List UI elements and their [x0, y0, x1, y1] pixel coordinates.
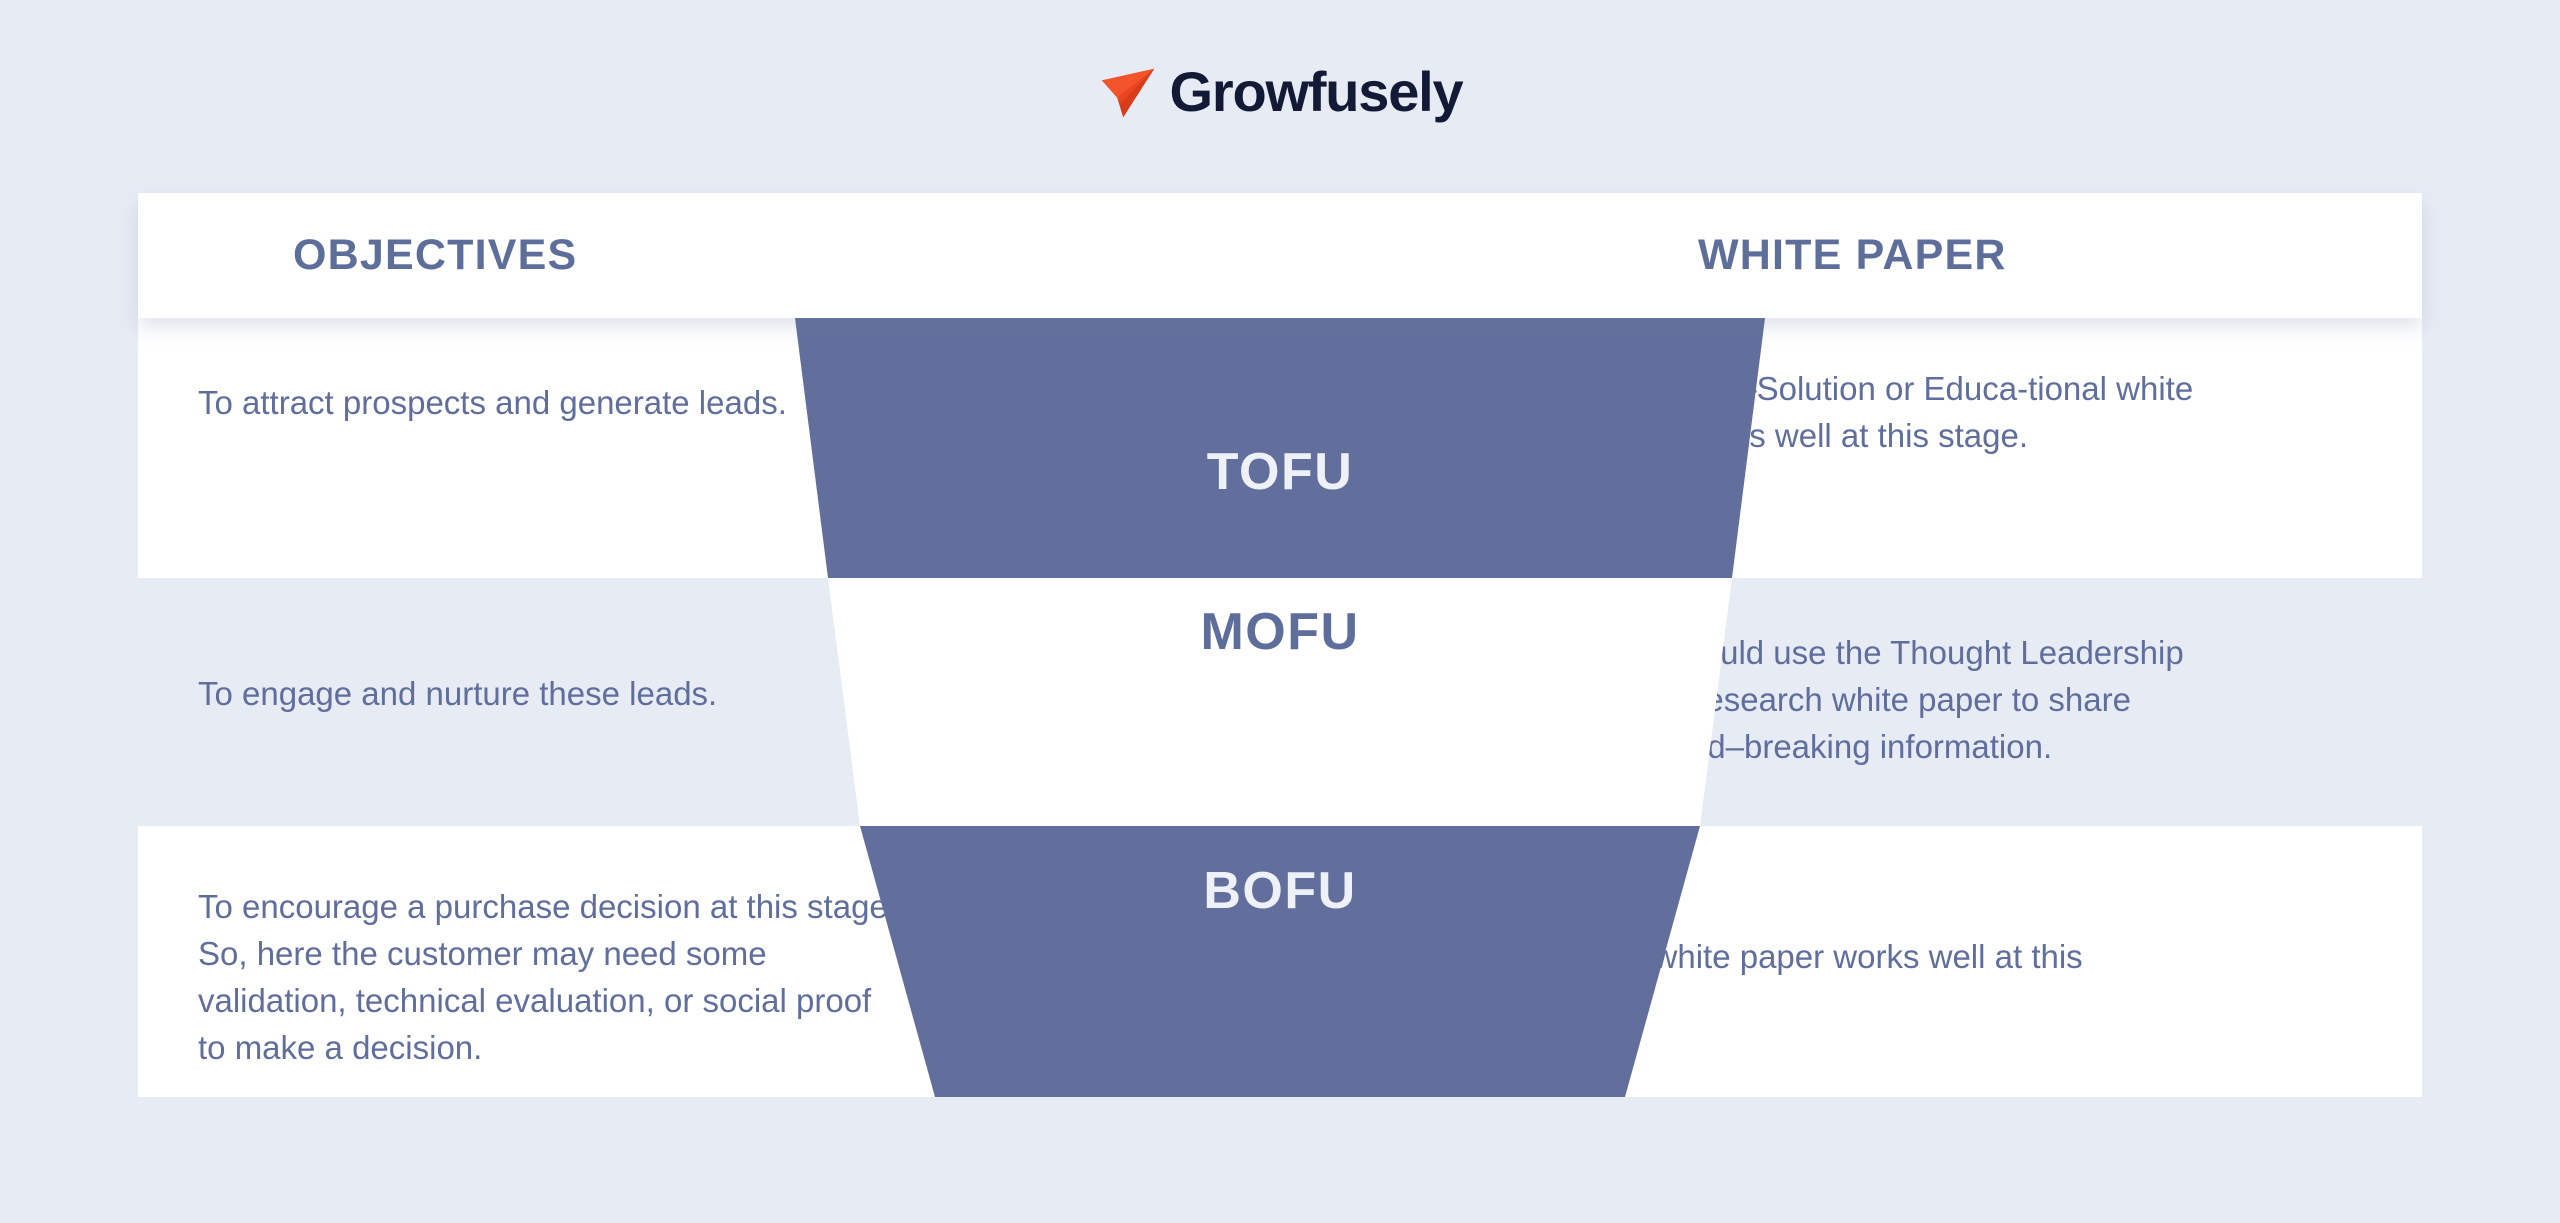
- brand-name: Growfusely: [1170, 64, 1463, 120]
- funnel-comparison-card: To attract prospects and generate leads.…: [138, 193, 2422, 1097]
- brand-logo: Growfusely: [0, 52, 2560, 132]
- white-paper-text-bofu: A Technical white paper works well at th…: [1478, 934, 2158, 1028]
- funnel-label-tofu: TOFU: [138, 442, 2422, 502]
- column-header-white-paper: WHITE PAPER: [1698, 193, 2007, 318]
- objective-text-mofu: To engage and nurture these leads.: [198, 671, 858, 718]
- column-header-objectives: OBJECTIVES: [293, 193, 577, 318]
- table-header: OBJECTIVES WHITE PAPER: [138, 193, 2422, 318]
- paper-plane-icon: [1098, 61, 1160, 123]
- funnel-label-bofu: BOFU: [138, 861, 2422, 921]
- infographic-page: Growfusely To attract prospects and gene…: [0, 0, 2560, 1223]
- funnel-label-mofu: MOFU: [138, 602, 2422, 662]
- objective-text-tofu: To attract prospects and generate leads.: [198, 380, 858, 427]
